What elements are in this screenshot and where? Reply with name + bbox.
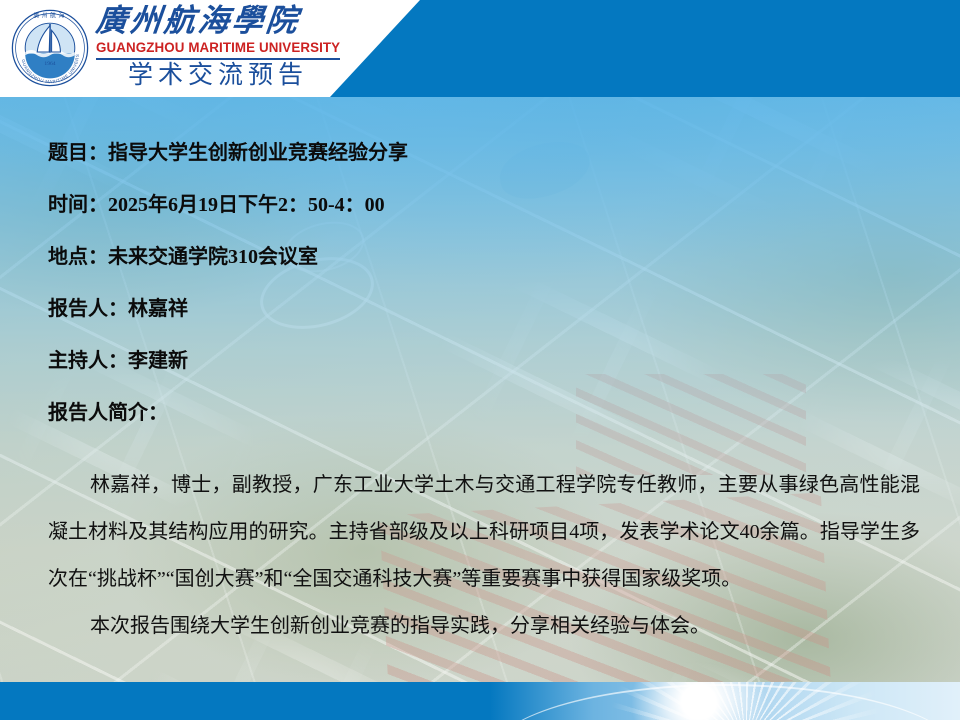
info-line-host: 主持人：李建新 <box>48 349 928 374</box>
info-line-time: 时间：2025年6月19日下午2：50-4：00 <box>48 193 928 218</box>
info-line-speaker-bio-heading: 报告人简介： <box>48 401 928 426</box>
university-name-cn: 廣州航海學院 <box>94 2 348 40</box>
speaker-bio-paragraph-1: 林嘉祥，博士，副教授，广东工业大学土木与交通工程学院专任教师，主要从事绿色高性能… <box>48 462 920 603</box>
speaker-bio-paragraph-2: 本次报告围绕大学生创新创业竞赛的指导实践，分享相关经验与体会。 <box>48 603 920 650</box>
info-line-speaker: 报告人：林嘉祥 <box>48 297 928 322</box>
footer-bar <box>0 682 960 720</box>
academic-lecture-poster: 1964 廣州航海 GUANGZHOU MARITIME UNIVERSITY … <box>0 0 960 720</box>
speaker-bio: 林嘉祥，博士，副教授，广东工业大学土木与交通工程学院专任教师，主要从事绿色高性能… <box>48 462 920 650</box>
brand-divider <box>96 58 340 60</box>
header-banner: 1964 廣州航海 GUANGZHOU MARITIME UNIVERSITY … <box>0 0 960 97</box>
sailboat-seal-logo: 1964 廣州航海 GUANGZHOU MARITIME UNIVERSITY <box>10 8 90 88</box>
brand-lockup: 廣州航海學院 GUANGZHOU MARITIME UNIVERSITY 学术交… <box>96 2 346 91</box>
info-line-location: 地点：未来交通学院310会议室 <box>48 245 928 270</box>
lecture-info-list: 题目：指导大学生创新创业竞赛经验分享 时间：2025年6月19日下午2：50-4… <box>48 141 928 453</box>
banner-subtitle: 学术交流预告 <box>96 61 340 91</box>
svg-text:1964: 1964 <box>44 61 55 67</box>
university-name-en: GUANGZHOU MARITIME UNIVERSITY <box>96 40 344 56</box>
poster-content: 题目：指导大学生创新创业竞赛经验分享 时间：2025年6月19日下午2：50-4… <box>0 97 960 682</box>
info-line-title: 题目：指导大学生创新创业竞赛经验分享 <box>48 141 928 166</box>
